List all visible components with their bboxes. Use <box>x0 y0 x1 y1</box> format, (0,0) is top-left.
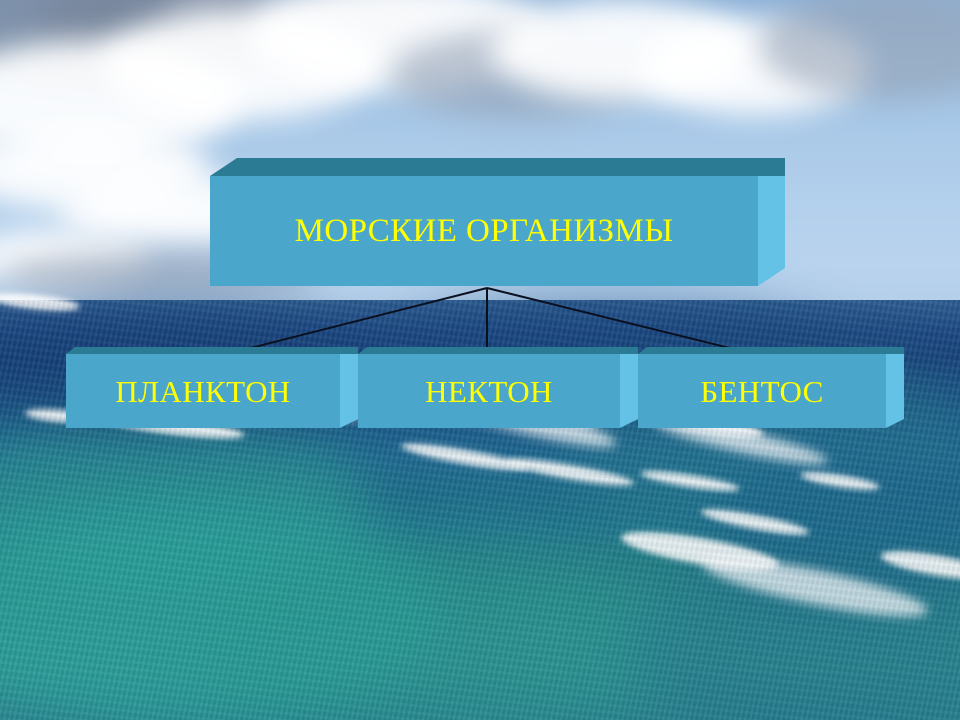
box-top-face <box>66 347 340 354</box>
box-top-cap <box>886 347 904 354</box>
node-label-plankton: ПЛАНКТОН <box>115 376 290 407</box>
node-label-bentos: БЕНТОС <box>700 376 824 407</box>
node-plankton[interactable]: ПЛАНКТОН <box>66 347 358 428</box>
box-front-face: МОРСКИЕ ОРГАНИЗМЫ <box>210 176 758 286</box>
box-front-face: ПЛАНКТОН <box>66 354 340 428</box>
box-top-cap <box>758 158 785 176</box>
node-marine-organisms[interactable]: МОРСКИЕ ОРГАНИЗМЫ <box>210 158 785 286</box>
box-front-face: НЕКТОН <box>358 354 620 428</box>
box-top-face <box>638 347 886 354</box>
box-front-face: БЕНТОС <box>638 354 886 428</box>
box-side-face <box>620 354 638 428</box>
box-top-face <box>358 347 620 354</box>
box-side-face <box>758 176 785 286</box>
slide-canvas: МОРСКИЕ ОРГАНИЗМЫ ПЛАНКТОН НЕКТОН БЕНТОС <box>0 0 960 720</box>
node-label-nekton: НЕКТОН <box>425 376 553 407</box>
box-top-cap <box>620 347 638 354</box>
box-top-face <box>210 158 758 176</box>
box-side-face <box>340 354 358 428</box>
node-bentos[interactable]: БЕНТОС <box>638 347 904 428</box>
node-label-marine-organisms: МОРСКИЕ ОРГАНИЗМЫ <box>295 215 674 248</box>
box-side-face <box>886 354 904 428</box>
box-top-cap <box>340 347 358 354</box>
node-nekton[interactable]: НЕКТОН <box>358 347 638 428</box>
